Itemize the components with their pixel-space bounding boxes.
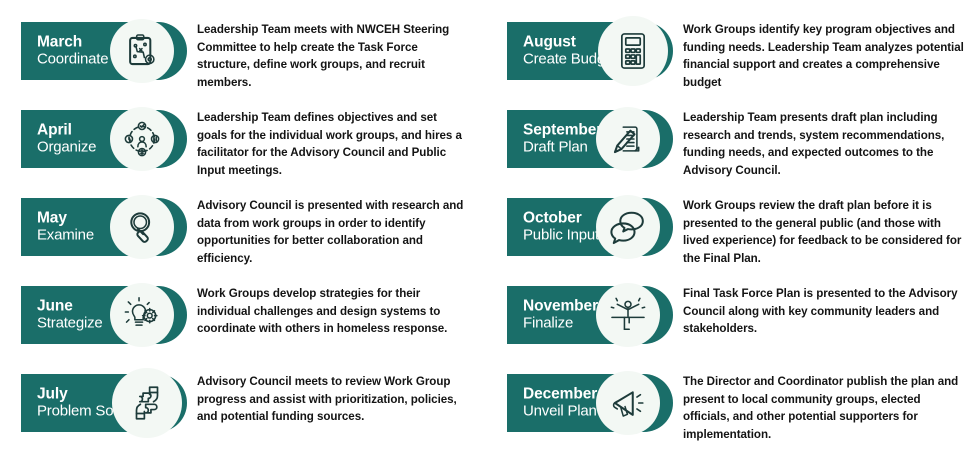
person-planning-circle-icon [110,107,174,171]
magnifying-glass-icon [110,195,174,259]
description-text: Work Groups identify key program objecti… [683,21,964,91]
month-label: April [37,123,96,140]
description-text: Leadership Team presents draft plan incl… [683,109,964,179]
badge-labels: April Organize [37,123,96,156]
timeline-column-second-half: August Create Budget Work [486,0,971,458]
timeline-item-october[interactable]: October Public Input Work Groups review … [486,187,971,275]
month-label: September [523,123,602,140]
action-label: Coordinate [37,51,108,67]
action-label: Public Input [523,227,599,243]
badge-labels: October Public Input [523,211,599,244]
calculator-icon [598,16,668,86]
timeline-item-march[interactable]: March Coordinate Leadership Team meet [0,11,486,99]
timeline-item-april[interactable]: April Organize [0,99,486,187]
month-label: May [37,211,94,228]
month-label: December [523,387,597,404]
description-text: Advisory Council is presented with resea… [197,197,469,267]
badge-labels: November Finalize [523,299,598,332]
lightbulb-gear-icon [110,283,174,347]
speech-bubbles-icon [596,195,660,259]
pencil-document-icon [596,107,660,171]
action-label: Draft Plan [523,139,602,155]
description-text: Leadership Team defines objectives and s… [197,109,469,179]
month-label: June [37,299,103,316]
timeline-item-august[interactable]: August Create Budget Work [486,11,971,99]
action-label: Strategize [37,315,103,331]
month-label: March [37,35,108,52]
timeline-column-first-half: March Coordinate Leadership Team meet [0,0,486,458]
timeline-item-june[interactable]: June Strategize Work Groups develop stra… [0,275,486,363]
finish-line-celebration-icon [596,283,660,347]
description-text: Work Groups develop strategies for their… [197,285,469,338]
description-text: Work Groups review the draft plan before… [683,197,964,267]
badge-labels: December Unveil Plan [523,387,597,420]
timeline-item-september[interactable]: September Draft Plan Leadership Team pre… [486,99,971,187]
timeline-infographic: March Coordinate Leadership Team meet [0,0,971,458]
timeline-item-december[interactable]: December Unveil Plan The Director and Co… [486,363,971,451]
description-text: Advisory Council meets to review Work Gr… [197,373,469,426]
badge-labels: May Examine [37,211,94,244]
megaphone-icon [596,371,660,435]
badge-labels: June Strategize [37,299,103,332]
action-label: Unveil Plan [523,403,597,419]
clipboard-strategy-icon [110,19,174,83]
timeline-item-july[interactable]: July Problem Solve Advisory Council meet… [0,363,486,451]
badge-labels: September Draft Plan [523,123,602,156]
puzzle-hands-icon [112,368,182,438]
description-text: Final Task Force Plan is presented to th… [683,285,964,338]
badge-labels: March Coordinate [37,35,108,68]
action-label: Organize [37,139,96,155]
timeline-item-november[interactable]: November Finalize Final Task Force Plan … [486,275,971,363]
description-text: The Director and Coordinator publish the… [683,373,964,443]
month-label: October [523,211,599,228]
month-label: November [523,299,598,316]
action-label: Finalize [523,315,598,331]
timeline-item-may[interactable]: May Examine Advisory Council is presente… [0,187,486,275]
action-label: Examine [37,227,94,243]
description-text: Leadership Team meets with NWCEH Steerin… [197,21,469,91]
